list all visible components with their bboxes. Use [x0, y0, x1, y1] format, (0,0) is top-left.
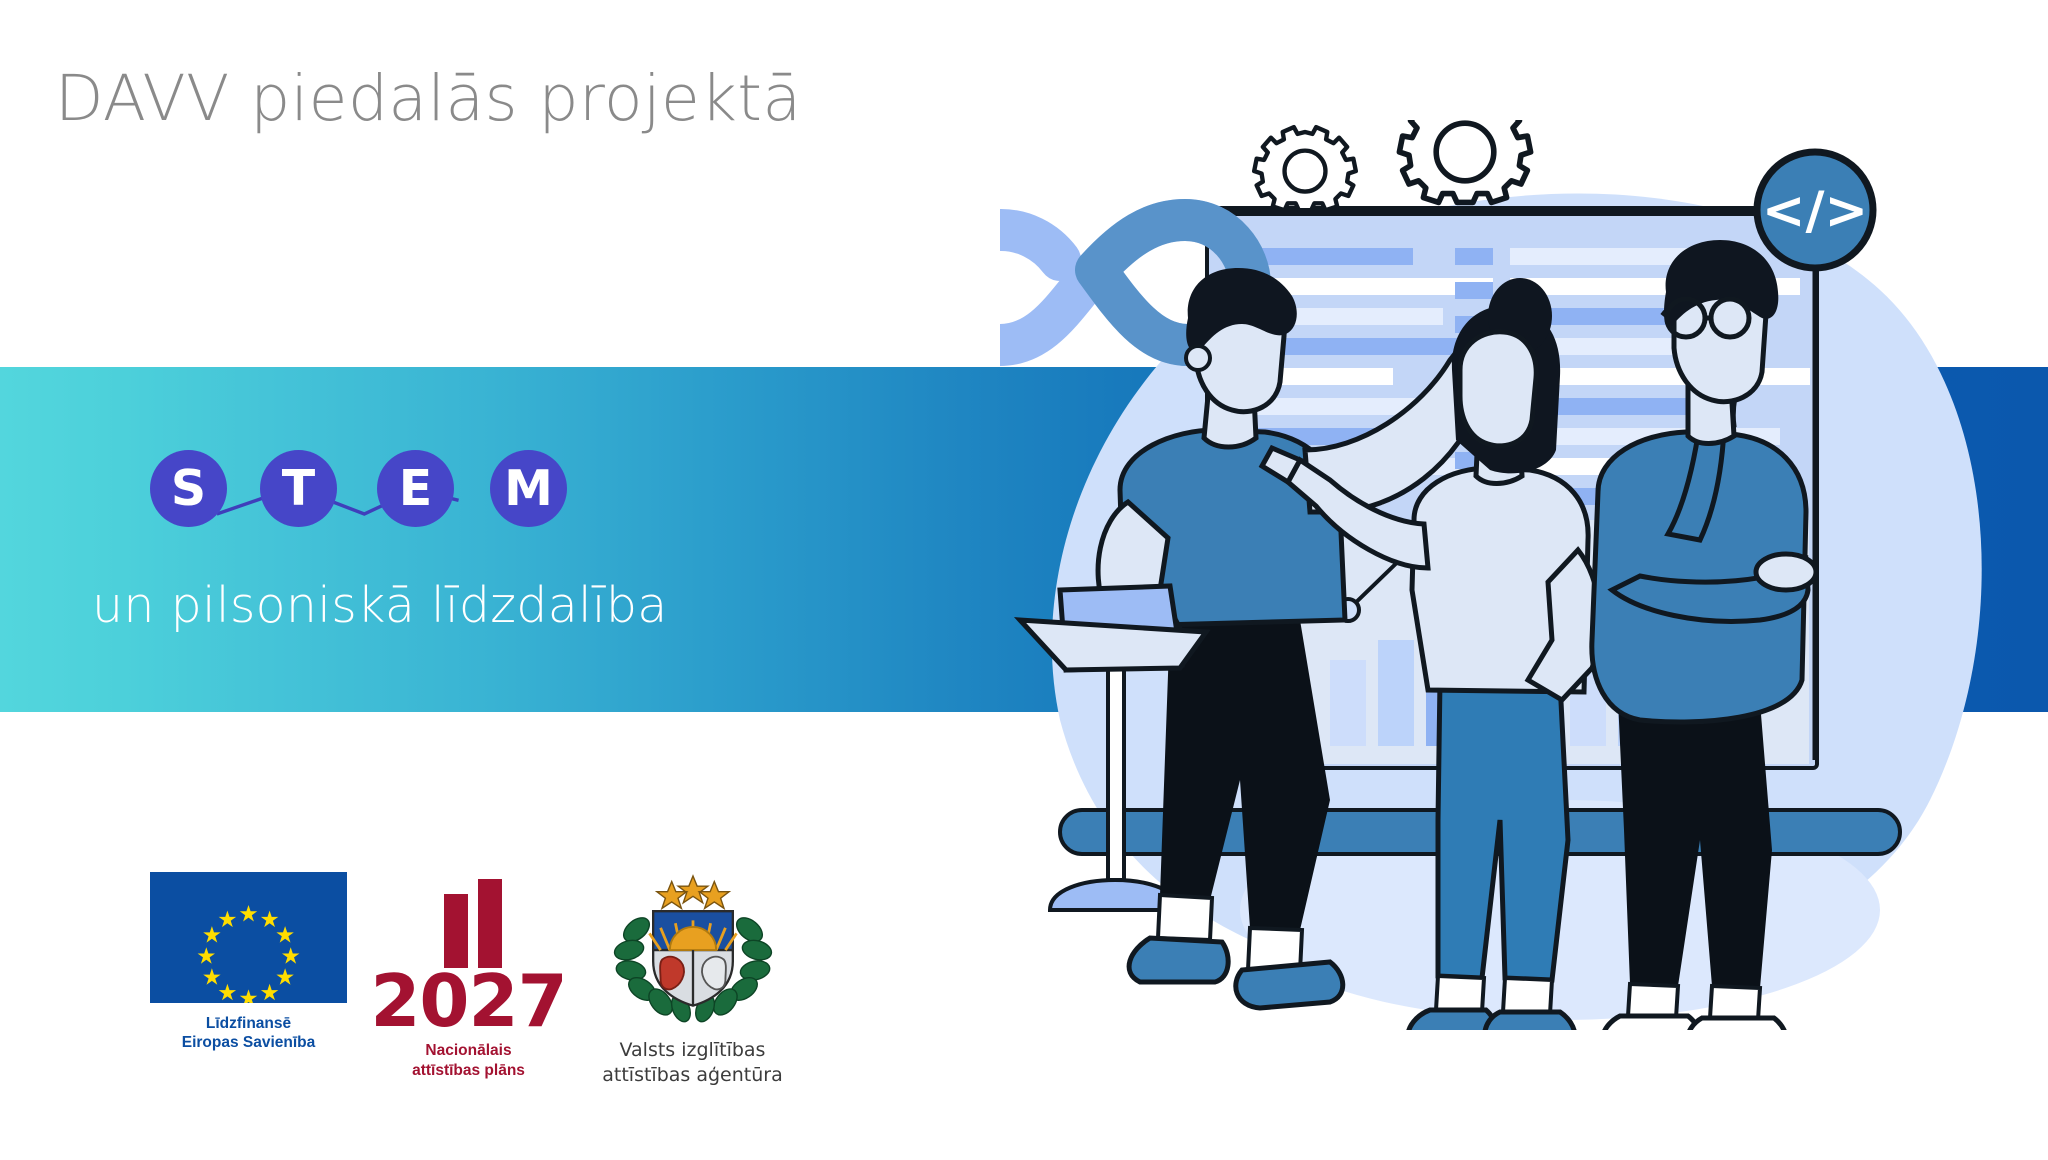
page-title: DAVV piedalās projektā: [55, 62, 802, 135]
shoe: [1129, 938, 1228, 982]
eu-flag: [150, 872, 347, 1003]
code-badge-label: </>: [1762, 181, 1868, 241]
eu-caption-line2: Eiropas Savienība: [182, 1033, 316, 1052]
valsts-izglitibas-attistibas-agentura-logo: Valsts izglītības attīstības aģentūra: [590, 872, 795, 1087]
viaa-caption-line2: attīstības aģentūra: [602, 1063, 782, 1088]
nap-year: 2027: [370, 968, 566, 1034]
stem-letter-s: S: [150, 450, 227, 527]
shoe: [1602, 1016, 1701, 1030]
nap-caption-line1: Nacionālais: [412, 1041, 525, 1060]
head: [1460, 332, 1536, 446]
stem-letter-m: M: [490, 450, 567, 527]
nap-bars-icon: [424, 872, 514, 968]
stem-teamwork-illustration: </>: [1000, 120, 2048, 1030]
stem-letter-e: E: [377, 450, 454, 527]
nap-caption: Nacionālais attīstības plāns: [412, 1041, 525, 1080]
nacionalais-attistibas-plans-logo: 2027 Nacionālais attīstības plāns: [391, 872, 546, 1080]
eu-caption: Līdzfinansē Eiropas Savienība: [182, 1014, 316, 1053]
latvia-coat-of-arms-icon: [605, 872, 781, 1030]
viaa-caption: Valsts izglītības attīstības aģentūra: [602, 1038, 782, 1087]
eu-caption-line1: Līdzfinansē: [182, 1014, 316, 1033]
eu-flag-logo: Līdzfinansē Eiropas Savienība: [150, 872, 347, 1053]
viaa-caption-line1: Valsts izglītības: [602, 1038, 782, 1063]
shoe: [1687, 1018, 1787, 1030]
nap-caption-line2: attīstības plāns: [412, 1061, 525, 1080]
shoe: [1236, 962, 1343, 1008]
stem-subtitle: un pilsoniskā līdzdalība: [92, 577, 668, 634]
gear-icon-small: [1254, 127, 1356, 210]
stem-logo: S T E M: [150, 440, 510, 540]
shoe: [1485, 1012, 1576, 1030]
gear-icon-large: [1399, 120, 1530, 202]
hand: [1756, 554, 1816, 590]
funding-logos-strip: Līdzfinansē Eiropas Savienība 2027 Nacio…: [150, 872, 795, 1087]
stem-letter-t: T: [260, 450, 337, 527]
